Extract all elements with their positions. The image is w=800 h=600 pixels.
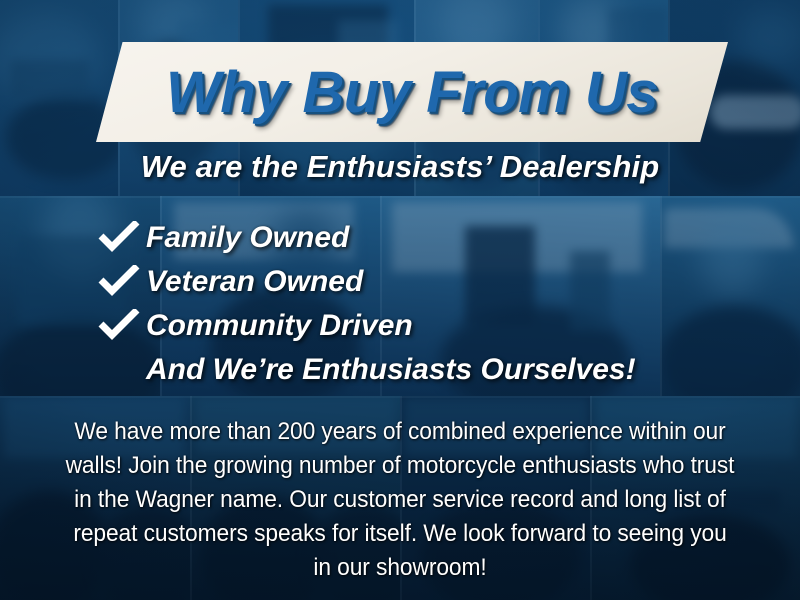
benefits-list: Family Owned Veteran Owned Community Dri… bbox=[98, 216, 738, 392]
check-mark-icon bbox=[98, 265, 146, 299]
page-title: Why Buy From Us bbox=[96, 42, 728, 142]
promo-graphic: Why Buy From Us We are the Enthusiasts’ … bbox=[0, 0, 800, 600]
subtitle: We are the Enthusiasts’ Dealership bbox=[0, 149, 800, 185]
list-item: And We’re Enthusiasts Ourselves! bbox=[98, 348, 738, 392]
list-item-label: Veteran Owned bbox=[146, 265, 363, 299]
list-item-label: And We’re Enthusiasts Ourselves! bbox=[146, 353, 636, 387]
description-paragraph: We have more than 200 years of combined … bbox=[65, 415, 735, 585]
check-mark-icon bbox=[98, 309, 146, 343]
list-item: Veteran Owned bbox=[98, 260, 738, 304]
list-item: Community Driven bbox=[98, 304, 738, 348]
list-item-label: Family Owned bbox=[146, 221, 349, 255]
list-item: Family Owned bbox=[98, 216, 738, 260]
list-item-label: Community Driven bbox=[146, 309, 413, 343]
check-mark-icon bbox=[98, 221, 146, 255]
